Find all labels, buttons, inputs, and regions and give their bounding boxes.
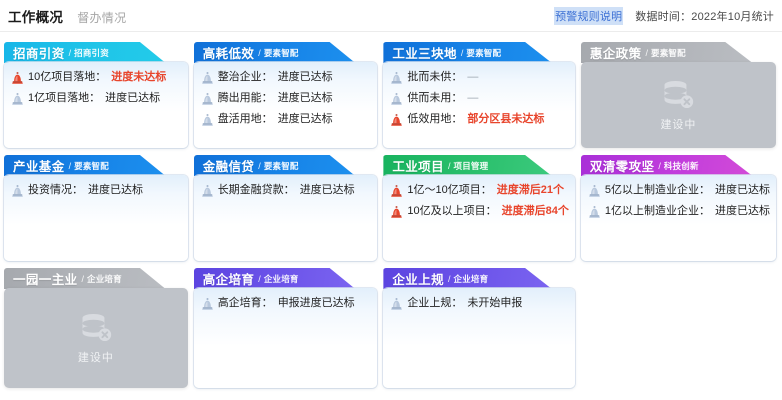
card-title-separator: / xyxy=(258,274,261,284)
siren-alert-icon xyxy=(391,114,402,126)
card-subtitle: 招商引资 xyxy=(74,47,109,59)
card-body: 10亿项目落地：进度未达标1亿项目落地：进度已达标 xyxy=(4,62,188,148)
card-subtitle: 科技创新 xyxy=(664,160,699,172)
status-row[interactable]: 批而未供：— xyxy=(391,71,569,84)
card-subtitle: 要素智配 xyxy=(651,47,686,59)
card-title: 工业三块地 xyxy=(392,43,457,62)
status-row-value: 进度已达标 xyxy=(715,184,770,197)
status-row-value: 进度滞后84个 xyxy=(502,205,569,218)
database-missing-icon xyxy=(661,79,695,111)
status-row-value: 进度已达标 xyxy=(278,113,333,126)
status-row[interactable]: 盘活用地：进度已达标 xyxy=(202,113,372,126)
status-row-value: 进度已达标 xyxy=(300,184,355,197)
siren-ok-icon xyxy=(202,72,213,84)
data-time-label: 数据时间：2022年10月统计 xyxy=(635,8,774,24)
card[interactable]: 金融信贷/要素智配长期金融贷款：进度已达标 xyxy=(194,155,378,261)
siren-ok-icon xyxy=(202,93,213,105)
card-title-separator: / xyxy=(258,48,261,58)
siren-alert-icon xyxy=(391,206,402,218)
tab-work-overview[interactable]: 工作概况 xyxy=(8,6,63,26)
status-row[interactable]: 1亿项目落地：进度已达标 xyxy=(12,92,182,105)
card-subtitle: 要素智配 xyxy=(264,47,299,59)
top-bar: 工作概况 督办情况 预警规则说明 数据时间：2022年10月统计 xyxy=(0,0,782,32)
card-grid: 招商引资/招商引资10亿项目落地：进度未达标1亿项目落地：进度已达标高耗低效/要… xyxy=(0,32,782,388)
status-row-value: 未开始申报 xyxy=(467,297,522,310)
status-row[interactable]: 10亿项目落地：进度未达标 xyxy=(12,71,182,84)
status-row-label: 批而未供： xyxy=(407,71,462,84)
dashboard-page: 工作概况 督办情况 预警规则说明 数据时间：2022年10月统计 招商引资/招商… xyxy=(0,0,782,400)
top-bar-right: 预警规则说明 数据时间：2022年10月统计 xyxy=(554,0,774,32)
card-header: 高企培育/企业培育 xyxy=(194,268,378,289)
siren-ok-icon xyxy=(202,298,213,310)
card-header: 招商引资/招商引资 xyxy=(4,42,188,63)
card-subtitle: 企业培育 xyxy=(87,273,122,285)
card[interactable]: 工业项目/项目管理1亿～10亿项目：进度滞后21个10亿及以上项目：进度滞后84… xyxy=(383,155,575,261)
card-subtitle: 要素智配 xyxy=(74,160,109,172)
card-header: 工业项目/项目管理 xyxy=(383,155,575,176)
card[interactable]: 高耗低效/要素智配整治企业：进度已达标腾出用能：进度已达标盘活用地：进度已达标 xyxy=(194,42,378,148)
status-row-value: 进度已达标 xyxy=(715,205,770,218)
card-title: 高企培育 xyxy=(203,269,255,288)
status-row-value: 进度未达标 xyxy=(111,71,166,84)
card-title: 招商引资 xyxy=(13,43,65,62)
card-body: 整治企业：进度已达标腾出用能：进度已达标盘活用地：进度已达标 xyxy=(194,62,378,148)
tab-group: 工作概况 督办情况 xyxy=(0,6,126,26)
status-row[interactable]: 1亿以上制造业企业：进度已达标 xyxy=(589,205,770,218)
database-missing-icon xyxy=(79,312,113,344)
status-row-label: 低效用地： xyxy=(407,113,462,126)
status-row[interactable]: 低效用地：部分区县未达标 xyxy=(391,113,569,126)
under-construction-label: 建设中 xyxy=(78,349,114,365)
card[interactable]: 高企培育/企业培育高企培育：申报进度已达标 xyxy=(194,268,378,388)
card-body: 投资情况：进度已达标 xyxy=(4,175,188,261)
status-row-label: 10亿项目落地： xyxy=(28,71,106,84)
card-subtitle: 企业培育 xyxy=(264,273,299,285)
siren-ok-icon xyxy=(589,185,600,197)
card-subtitle: 要素智配 xyxy=(264,160,299,172)
status-row-value: 部分区县未达标 xyxy=(467,113,544,126)
siren-alert-icon xyxy=(391,185,402,197)
status-row[interactable]: 5亿以上制造业企业：进度已达标 xyxy=(589,184,770,197)
card-body: 批而未供：—供而未用：—低效用地：部分区县未达标 xyxy=(383,62,575,148)
status-row-value: — xyxy=(467,71,478,84)
status-row-label: 供而未用： xyxy=(407,92,462,105)
card[interactable]: 惠企政策/要素智配建设中 xyxy=(581,42,776,148)
siren-ok-icon xyxy=(12,185,23,197)
status-row[interactable]: 整治企业：进度已达标 xyxy=(202,71,372,84)
status-row[interactable]: 1亿～10亿项目：进度滞后21个 xyxy=(391,184,569,197)
card-body: 企业上规：未开始申报 xyxy=(383,288,575,388)
card-title: 金融信贷 xyxy=(203,156,255,175)
card[interactable]: 工业三块地/要素智配批而未供：—供而未用：—低效用地：部分区县未达标 xyxy=(383,42,575,148)
card-title: 一园一主业 xyxy=(13,269,78,288)
card-title-separator: / xyxy=(69,48,72,58)
status-row-value: 进度已达标 xyxy=(278,92,333,105)
card-title: 惠企政策 xyxy=(590,43,642,62)
card-title-separator: / xyxy=(461,48,464,58)
warning-rule-link[interactable]: 预警规则说明 xyxy=(554,7,623,25)
card[interactable]: 招商引资/招商引资10亿项目落地：进度未达标1亿项目落地：进度已达标 xyxy=(4,42,188,148)
card-body: 5亿以上制造业企业：进度已达标1亿以上制造业企业：进度已达标 xyxy=(581,175,776,261)
card-header: 惠企政策/要素智配 xyxy=(581,42,776,63)
status-row-label: 长期金融贷款： xyxy=(218,184,295,197)
card-body: 1亿～10亿项目：进度滞后21个10亿及以上项目：进度滞后84个 xyxy=(383,175,575,261)
card-subtitle: 项目管理 xyxy=(454,160,489,172)
card-header: 产业基金/要素智配 xyxy=(4,155,188,176)
status-row[interactable]: 企业上规：未开始申报 xyxy=(391,297,569,310)
card-header: 双清零攻坚/科技创新 xyxy=(581,155,776,176)
card-header: 工业三块地/要素智配 xyxy=(383,42,575,63)
status-row-label: 投资情况： xyxy=(28,184,83,197)
card-body-under-construction: 建设中 xyxy=(581,62,776,148)
status-row[interactable]: 腾出用能：进度已达标 xyxy=(202,92,372,105)
status-row-label: 腾出用能： xyxy=(218,92,273,105)
card-title-separator: / xyxy=(645,48,648,58)
status-row-label: 10亿及以上项目： xyxy=(407,205,496,218)
status-row[interactable]: 10亿及以上项目：进度滞后84个 xyxy=(391,205,569,218)
under-construction-label: 建设中 xyxy=(660,116,696,132)
card-header: 金融信贷/要素智配 xyxy=(194,155,378,176)
siren-ok-icon xyxy=(202,114,213,126)
card[interactable]: 双清零攻坚/科技创新5亿以上制造业企业：进度已达标1亿以上制造业企业：进度已达标 xyxy=(581,155,776,261)
card[interactable]: 产业基金/要素智配投资情况：进度已达标 xyxy=(4,155,188,261)
status-row[interactable]: 长期金融贷款：进度已达标 xyxy=(202,184,372,197)
card-title: 高耗低效 xyxy=(203,43,255,62)
siren-ok-icon xyxy=(391,298,402,310)
status-row-label: 企业上规： xyxy=(407,297,462,310)
card[interactable]: 企业上规/企业培育企业上规：未开始申报 xyxy=(383,268,575,388)
status-row-value: 进度已达标 xyxy=(88,184,143,197)
status-row[interactable]: 供而未用：— xyxy=(391,92,569,105)
card-body: 高企培育：申报进度已达标 xyxy=(194,288,378,388)
status-row-label: 1亿项目落地： xyxy=(28,92,100,105)
status-row-value: 进度已达标 xyxy=(105,92,160,105)
card-header: 企业上规/企业培育 xyxy=(383,268,575,289)
card-body-under-construction: 建设中 xyxy=(4,288,188,388)
status-row-label: 5亿以上制造业企业： xyxy=(605,184,710,197)
status-row-label: 1亿～10亿项目： xyxy=(407,184,491,197)
siren-ok-icon xyxy=(12,93,23,105)
siren-ok-icon xyxy=(589,206,600,218)
card-title-separator: / xyxy=(82,274,85,284)
siren-ok-icon xyxy=(391,72,402,84)
card-title-separator: / xyxy=(69,161,72,171)
card[interactable]: 一园一主业/企业培育建设中 xyxy=(4,268,188,388)
status-row[interactable]: 投资情况：进度已达标 xyxy=(12,184,182,197)
status-row-value: 进度滞后21个 xyxy=(497,184,564,197)
card-header: 一园一主业/企业培育 xyxy=(4,268,188,289)
card-title-separator: / xyxy=(448,161,451,171)
card-header: 高耗低效/要素智配 xyxy=(194,42,378,63)
card-subtitle: 要素智配 xyxy=(466,47,501,59)
card-title-separator: / xyxy=(658,161,661,171)
siren-alert-icon xyxy=(12,72,23,84)
card-title: 双清零攻坚 xyxy=(590,156,655,175)
status-row-label: 高企培育： xyxy=(218,297,273,310)
status-row-value: 进度已达标 xyxy=(278,71,333,84)
card-title: 产业基金 xyxy=(13,156,65,175)
siren-ok-icon xyxy=(391,93,402,105)
status-row[interactable]: 高企培育：申报进度已达标 xyxy=(202,297,372,310)
card-body: 长期金融贷款：进度已达标 xyxy=(194,175,378,261)
card-title-separator: / xyxy=(448,274,451,284)
status-row-value: — xyxy=(467,92,478,105)
siren-ok-icon xyxy=(202,185,213,197)
tab-supervision[interactable]: 督办情况 xyxy=(77,9,126,26)
card-title: 工业项目 xyxy=(392,156,444,175)
card-subtitle: 企业培育 xyxy=(454,273,489,285)
card-title: 企业上规 xyxy=(392,269,444,288)
status-row-label: 盘活用地： xyxy=(218,113,273,126)
status-row-label: 整治企业： xyxy=(218,71,273,84)
status-row-label: 1亿以上制造业企业： xyxy=(605,205,710,218)
card-title-separator: / xyxy=(258,161,261,171)
status-row-value: 申报进度已达标 xyxy=(278,297,355,310)
